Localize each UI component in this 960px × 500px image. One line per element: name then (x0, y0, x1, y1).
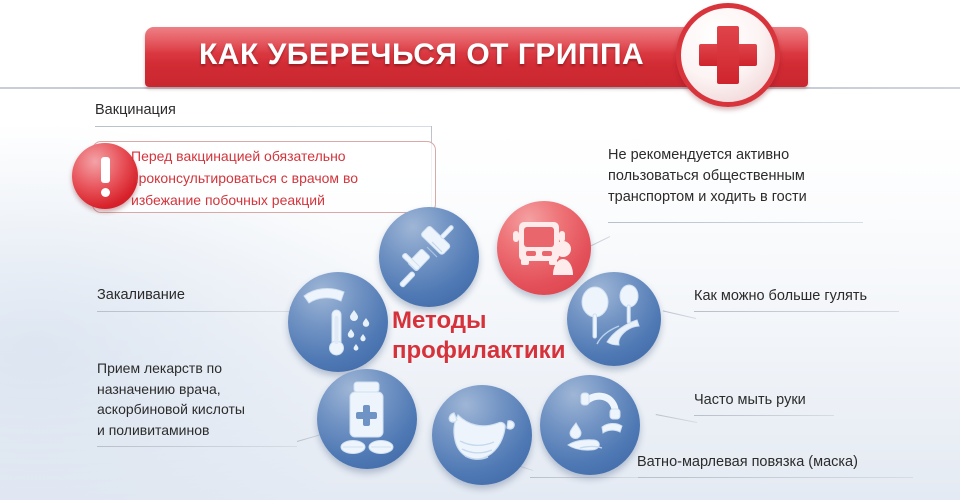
mask-underline (637, 477, 913, 478)
pill-bottle-icon[interactable] (317, 369, 417, 469)
trees-path-icon[interactable] (567, 272, 661, 366)
label-public-transport: Не рекомендуется активно пользоваться об… (608, 145, 938, 208)
vaccination-heading: Вакцинация (95, 100, 176, 121)
syringe-icon[interactable] (379, 207, 479, 307)
label-walking: Как можно больше гулять (694, 286, 867, 307)
medication-underline (97, 446, 297, 447)
exclamation-icon (72, 143, 138, 209)
walking-connector (663, 310, 696, 319)
label-hardening: Закаливание (97, 285, 185, 306)
warning-text: Перед вакцинацией обязательно проконсуль… (131, 145, 431, 211)
infographic-canvas: КАК УБЕРЕЧЬСЯ ОТ ГРИППА Вакцинация Перед… (0, 0, 960, 500)
exclamation-dot (101, 188, 110, 197)
label-mask: Ватно-марлевая повязка (маска) (637, 452, 858, 473)
label-wash-hands: Часто мыть руки (694, 390, 806, 411)
public-transport-underline (608, 222, 863, 223)
cross-bar-vertical (717, 26, 739, 84)
face-mask-icon[interactable] (432, 385, 532, 485)
wash-hands-underline (694, 415, 834, 416)
wash-hands-connector (656, 414, 697, 423)
red-cross-icon (676, 3, 780, 107)
page-title: КАК УБЕРЕЧЬСЯ ОТ ГРИППА (199, 38, 644, 72)
vaccination-underline (95, 126, 432, 127)
walking-underline (694, 311, 899, 312)
hand-wash-icon[interactable] (540, 375, 640, 475)
mask-connector-horizontal (530, 477, 638, 478)
header-divider (0, 87, 960, 89)
hardening-underline (97, 311, 290, 312)
exclamation-stem (101, 157, 110, 183)
shower-thermometer-icon[interactable] (288, 272, 388, 372)
